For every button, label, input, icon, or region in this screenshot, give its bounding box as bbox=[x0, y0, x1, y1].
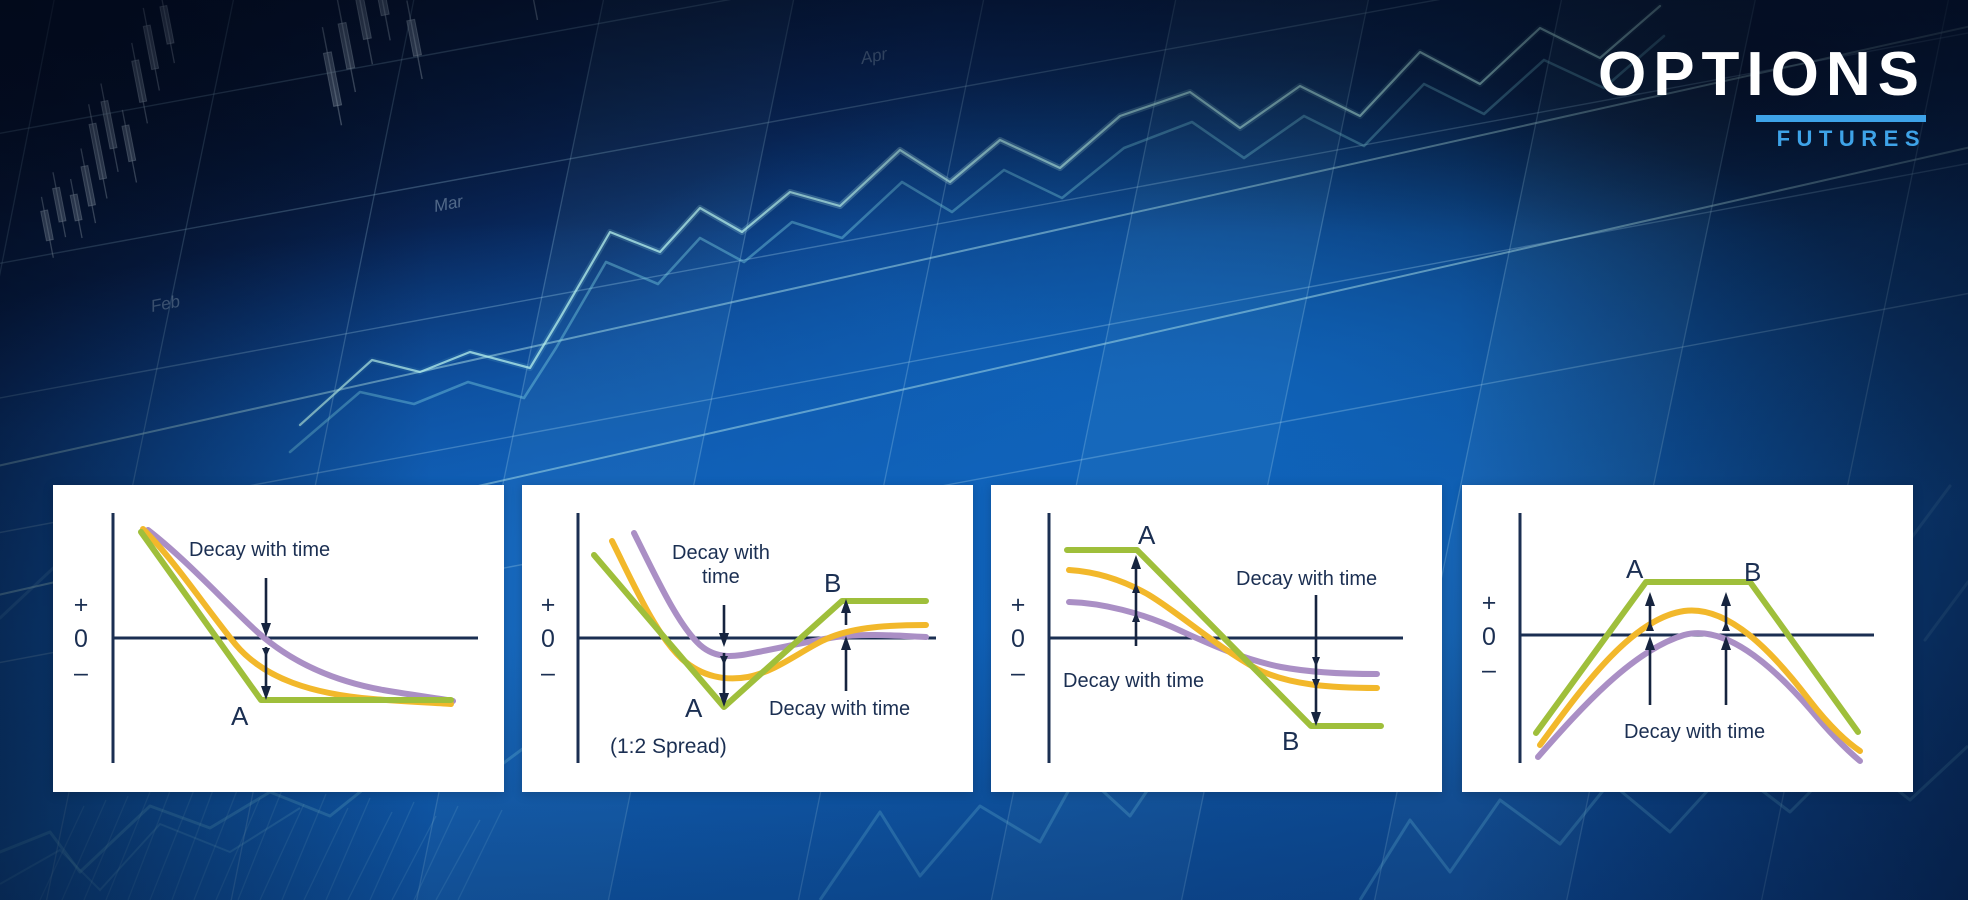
panel4-axis-label-zero: 0 bbox=[1482, 623, 1496, 651]
panel2-axis-label-zero: 0 bbox=[541, 625, 555, 653]
panel2-arrow-a-mid-head bbox=[720, 656, 728, 665]
panel3-axis-label-plus: + bbox=[1011, 591, 1026, 619]
chart-panel-3: + 0 – A Decay with time Decay with time … bbox=[991, 485, 1442, 792]
panel4-axis-label-minus: – bbox=[1482, 656, 1496, 684]
panel1-axis-label-plus: + bbox=[74, 591, 89, 619]
panel4-arrow-right-upper-head bbox=[1721, 592, 1731, 606]
panel2-annotation-decay-left-2: time bbox=[702, 566, 740, 588]
panel4-axis-label-plus: + bbox=[1482, 589, 1497, 617]
panel3-axis-label-minus: – bbox=[1011, 659, 1025, 687]
panel3-axis-label-zero: 0 bbox=[1011, 625, 1025, 653]
panel1-axis-label-minus: – bbox=[74, 659, 88, 687]
panel2-curve-at-expiration bbox=[594, 555, 926, 707]
chart-panel-1: + 0 – Decay with time A bbox=[53, 485, 504, 792]
logo-divider-rule bbox=[1756, 115, 1926, 122]
panel2-subtitle: (1:2 Spread) bbox=[610, 735, 727, 758]
panel2-axis-label-plus: + bbox=[541, 591, 556, 619]
panel3-point-label-a: A bbox=[1138, 520, 1156, 550]
panel2-point-label-a: A bbox=[685, 693, 703, 723]
panel4-annotation-decay: Decay with time bbox=[1624, 721, 1765, 743]
panel4-arrow-left-upper-head bbox=[1645, 592, 1655, 606]
panel3-point-label-b: B bbox=[1282, 726, 1299, 756]
panel2-annotation-decay-left-1: Decay with bbox=[672, 542, 770, 564]
panel1-axis-label-zero: 0 bbox=[74, 625, 88, 653]
panel1-arrow-mid-head bbox=[262, 648, 270, 657]
panel2-annotation-decay-right: Decay with time bbox=[769, 698, 910, 720]
panel1-annotation-decay: Decay with time bbox=[189, 539, 330, 561]
brand-logo: OPTIONS FUTURES bbox=[1598, 44, 1926, 150]
logo-secondary-text: FUTURES bbox=[1598, 128, 1926, 150]
chart-panel-4: + 0 – A B Decay with time bbox=[1462, 485, 1913, 792]
panel4-point-label-b: B bbox=[1744, 557, 1761, 587]
chart-panel-2: + 0 – Decay with time A B Decay with tim… bbox=[522, 485, 973, 792]
panel3-annotation-decay-right: Decay with time bbox=[1236, 568, 1377, 590]
page-root: Feb Mar Apr bbox=[0, 0, 1968, 900]
panel1-point-label-a: A bbox=[231, 701, 249, 731]
panel2-axis-label-minus: – bbox=[541, 659, 555, 687]
panel3-annotation-decay-left: Decay with time bbox=[1063, 670, 1204, 692]
panel3-arrow-left-head bbox=[1131, 555, 1141, 569]
panel4-point-label-a: A bbox=[1626, 554, 1644, 584]
panel2-point-label-b: B bbox=[824, 568, 841, 598]
logo-primary-text: OPTIONS bbox=[1598, 44, 1926, 106]
panel3-arrow-right-head-2 bbox=[1312, 657, 1320, 667]
panel2-arrow-a-upper-head bbox=[719, 633, 729, 647]
panel4-arrow-left-lower-head bbox=[1645, 636, 1655, 650]
